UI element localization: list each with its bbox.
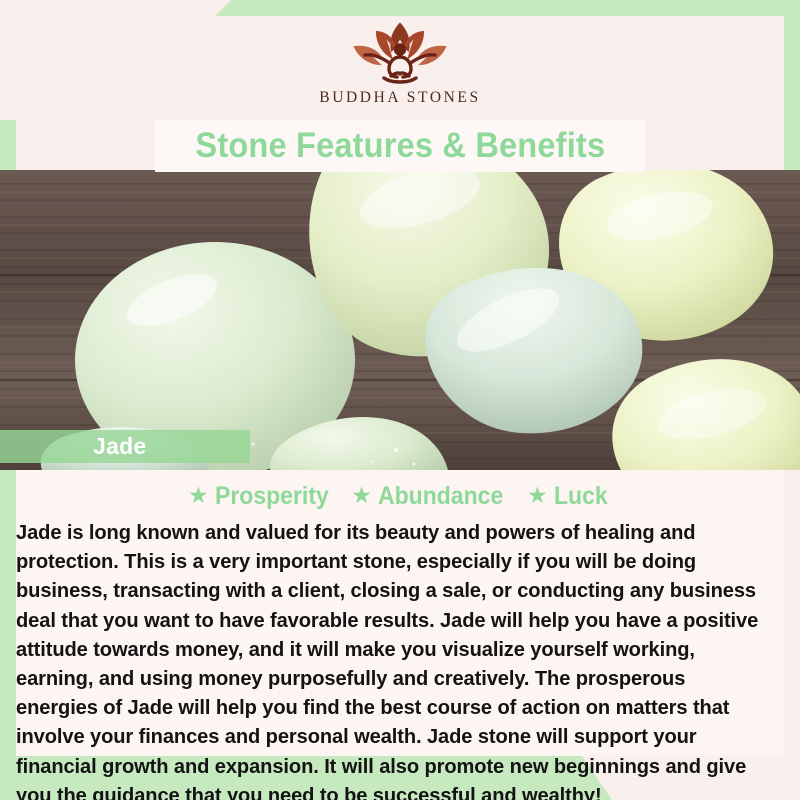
star-icon: ★ — [527, 484, 548, 507]
star-icon: ★ — [351, 484, 372, 507]
stone-name: Jade — [0, 435, 147, 458]
benefit-label: Prosperity — [215, 482, 329, 511]
benefit-item: ★ Prosperity — [188, 482, 338, 511]
star-icon: ★ — [188, 484, 209, 507]
page-title: Stone Features & Benefits — [195, 126, 605, 166]
brand-wordmark: BUDDHA STONES — [319, 89, 480, 107]
content-area: ★ Prosperity ★ Abundance ★ Luck Jade is … — [16, 470, 784, 756]
stone-photo — [0, 170, 800, 470]
title-banner: Stone Features & Benefits — [155, 120, 645, 172]
brand-logo: BUDDHA STONES — [0, 16, 800, 122]
stone-info-poster: BUDDHA STONES Stone Features & Benefits — [0, 0, 800, 800]
benefits-list: ★ Prosperity ★ Abundance ★ Luck — [16, 470, 784, 516]
benefit-item: ★ Luck — [527, 482, 612, 511]
stone-name-band: Jade — [0, 430, 250, 463]
stone-description: Jade is long known and valued for its be… — [16, 516, 772, 800]
lotus-meditation-icon — [327, 16, 473, 88]
benefit-label: Luck — [554, 482, 608, 511]
benefit-label: Abundance — [378, 482, 503, 511]
jade-stones-illustration — [0, 170, 800, 470]
decorative-top-band — [215, 0, 800, 16]
benefit-item: ★ Abundance — [351, 482, 514, 511]
